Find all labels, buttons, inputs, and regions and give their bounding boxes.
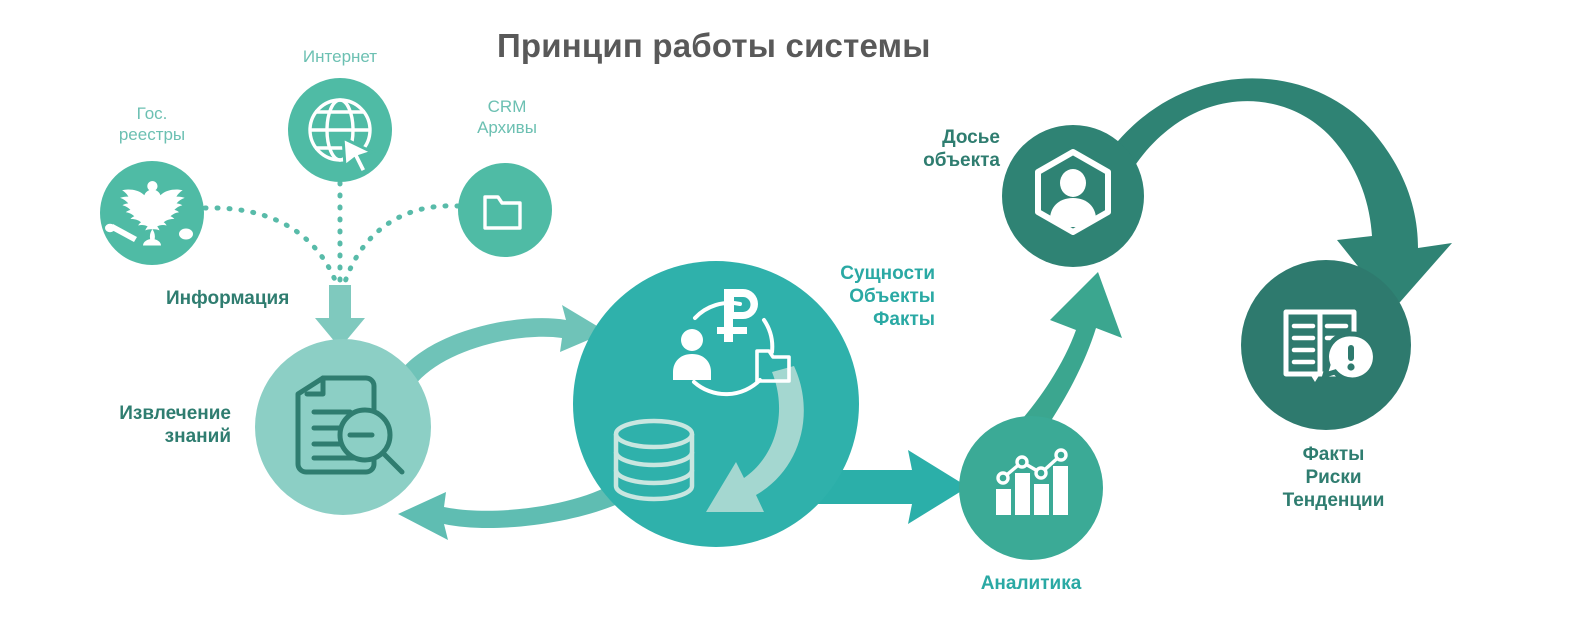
node-label-core: Сущности Объекты Факты (762, 262, 935, 332)
source-label-gos-reestry: Гос. реестры (92, 104, 212, 145)
source-label-internet: Интернет (280, 47, 400, 68)
node-extraction[interactable] (255, 339, 431, 515)
source-node-gos-reestry[interactable] (100, 161, 204, 265)
diagram-canvas: Принцип работы системы Гос. реестры Инте… (0, 0, 1593, 620)
node-facts[interactable] (1241, 260, 1411, 430)
source-node-internet[interactable] (288, 78, 392, 182)
node-label-facts: Факты Риски Тенденции (1246, 443, 1421, 513)
flow-label-information: Информация (166, 287, 346, 310)
node-label-extraction: Извлечение знаний (63, 402, 231, 448)
node-label-analytics: Аналитика (951, 572, 1111, 595)
source-label-crm-arhivy: CRM Архивы (447, 97, 567, 138)
node-dossier[interactable] (1002, 125, 1144, 267)
node-label-dossier: Досье объекта (858, 126, 1000, 172)
page-title: Принцип работы системы (497, 26, 931, 66)
source-node-crm-arhivy[interactable] (458, 163, 552, 257)
node-analytics[interactable] (959, 416, 1103, 560)
